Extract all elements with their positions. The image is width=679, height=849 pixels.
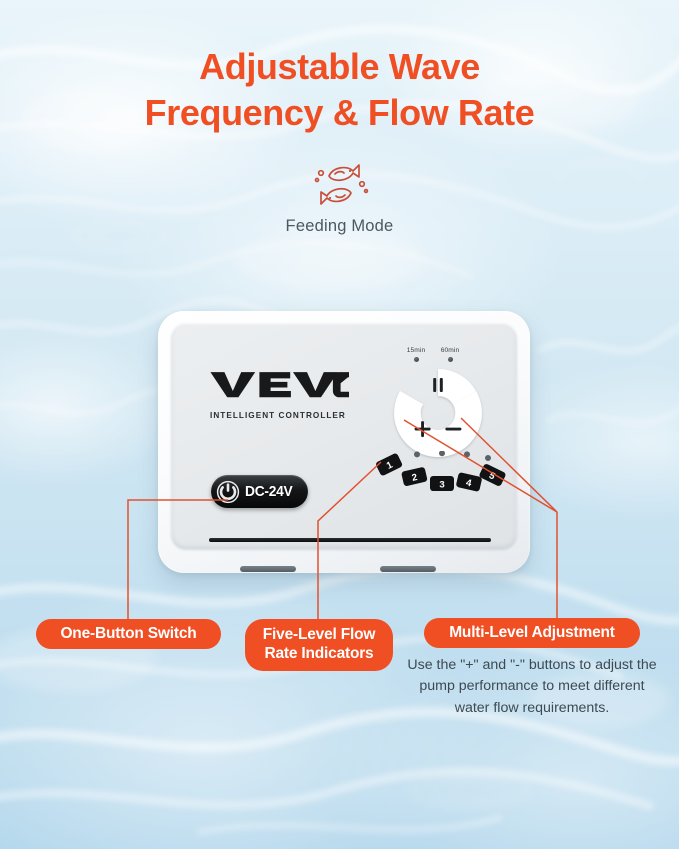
- callout-description-multi: Use the "+" and "-" buttons to adjust th…: [406, 655, 658, 719]
- power-button[interactable]: DC-24V: [211, 475, 308, 508]
- timer-15min-label: 15min: [407, 347, 425, 354]
- callout-label-levels-line1: Five-Level Flow: [263, 626, 375, 643]
- power-icon: [216, 480, 240, 504]
- page-title: Adjustable Wave Frequency & Flow Rate: [0, 44, 679, 136]
- vevor-logo: [209, 370, 349, 399]
- timer-15min-led: [414, 357, 419, 362]
- panel-accent-bar: [209, 538, 491, 542]
- callout-label-levels: Five-Level Flow Rate Indicators: [263, 626, 375, 663]
- callout-label-multi: Multi-Level Adjustment: [449, 624, 615, 643]
- timer-60min-label: 60min: [441, 347, 459, 354]
- timer-15min: 15min: [399, 347, 433, 362]
- flow-level-label-3: 3: [439, 479, 444, 490]
- flow-level-tab-1[interactable]: 1: [375, 452, 403, 476]
- control-dial[interactable]: [390, 365, 486, 461]
- flow-level-leds: [393, 451, 491, 461]
- minus-icon: [445, 428, 461, 431]
- device-subtitle: INTELLIGENT CONTROLLER: [210, 411, 346, 420]
- two-fish-icon: [309, 157, 371, 209]
- controller-device: INTELLIGENT CONTROLLER DC-24V 15min 60mi…: [158, 311, 530, 573]
- timer-60min-led: [448, 357, 453, 362]
- device-foot-left: [240, 566, 296, 572]
- flow-level-tab-3[interactable]: 3: [430, 476, 454, 491]
- flow-level-tab-2[interactable]: 2: [401, 467, 428, 487]
- callout-label-levels-line2: Rate Indicators: [265, 645, 374, 662]
- dial-plus-segment[interactable]: [394, 391, 438, 457]
- headline-line-2: Frequency & Flow Rate: [0, 90, 679, 136]
- callout-badge-five-level-flow[interactable]: Five-Level Flow Rate Indicators: [245, 619, 393, 671]
- timer-60min: 60min: [433, 347, 467, 362]
- device-foot-right: [380, 566, 436, 572]
- flow-level-indicators[interactable]: 1 2 3 4 5: [367, 451, 517, 499]
- feeding-mode: Feeding Mode: [0, 157, 679, 236]
- callout-badge-one-button-switch[interactable]: One-Button Switch: [36, 619, 221, 649]
- feeding-mode-label: Feeding Mode: [0, 217, 679, 236]
- callout-label-switch: One-Button Switch: [60, 625, 196, 644]
- headline-line-1: Adjustable Wave: [199, 46, 480, 87]
- dial-minus-segment[interactable]: [438, 391, 482, 457]
- device-panel: INTELLIGENT CONTROLLER DC-24V 15min 60mi…: [171, 323, 517, 549]
- callout-badge-multi-level-adjustment[interactable]: Multi-Level Adjustment: [424, 618, 640, 648]
- power-button-label: DC-24V: [245, 483, 292, 500]
- flow-level-tab-5[interactable]: 5: [478, 463, 506, 487]
- flow-level-tab-4[interactable]: 4: [456, 472, 483, 492]
